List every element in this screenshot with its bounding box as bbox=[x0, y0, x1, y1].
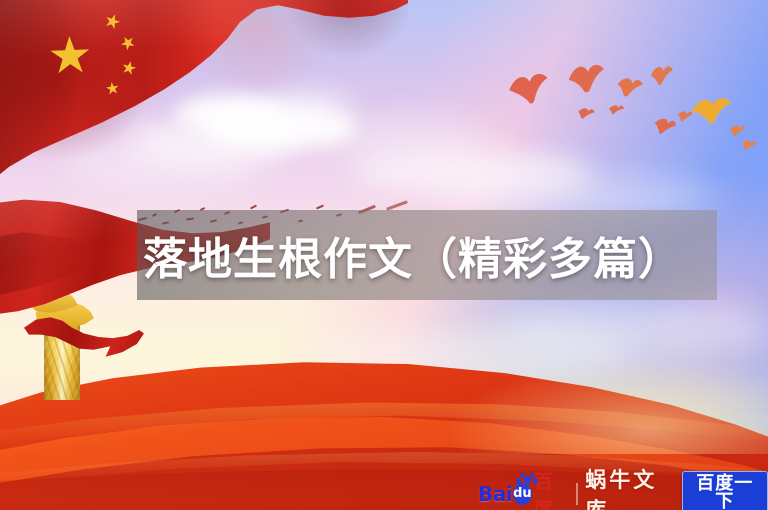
bird-icon bbox=[741, 138, 758, 152]
paw-print-icon bbox=[515, 474, 539, 487]
bird-icon bbox=[565, 60, 609, 102]
bird-icon bbox=[577, 106, 596, 122]
baidu-logo-bai: Bai bbox=[478, 482, 512, 506]
bird-icon bbox=[609, 103, 626, 115]
baidu-search-button[interactable]: 百度一下 bbox=[682, 471, 768, 510]
watermark-bar: Bai du 百度 蜗牛文库 百度一下 bbox=[478, 479, 768, 508]
bird-icon bbox=[688, 94, 735, 131]
page-title: 落地生根作文（精彩多篇） bbox=[143, 210, 723, 300]
chinese-flag bbox=[0, 0, 408, 190]
baidu-logo-du-text: du bbox=[513, 486, 532, 501]
baidu-logo[interactable]: Bai du 百度 bbox=[478, 481, 569, 507]
site-name: 蜗牛文库 bbox=[585, 464, 671, 510]
bird-icon bbox=[729, 123, 746, 138]
watermark-divider bbox=[576, 483, 578, 505]
bird-icon bbox=[678, 110, 693, 123]
poster-canvas: 落地生根作文（精彩多篇） Bai du 百度 蜗牛文库 百度一下 bbox=[0, 0, 768, 510]
bird-icon bbox=[649, 63, 675, 89]
bird-icon bbox=[614, 74, 644, 102]
baidu-logo-du: du bbox=[513, 483, 532, 505]
